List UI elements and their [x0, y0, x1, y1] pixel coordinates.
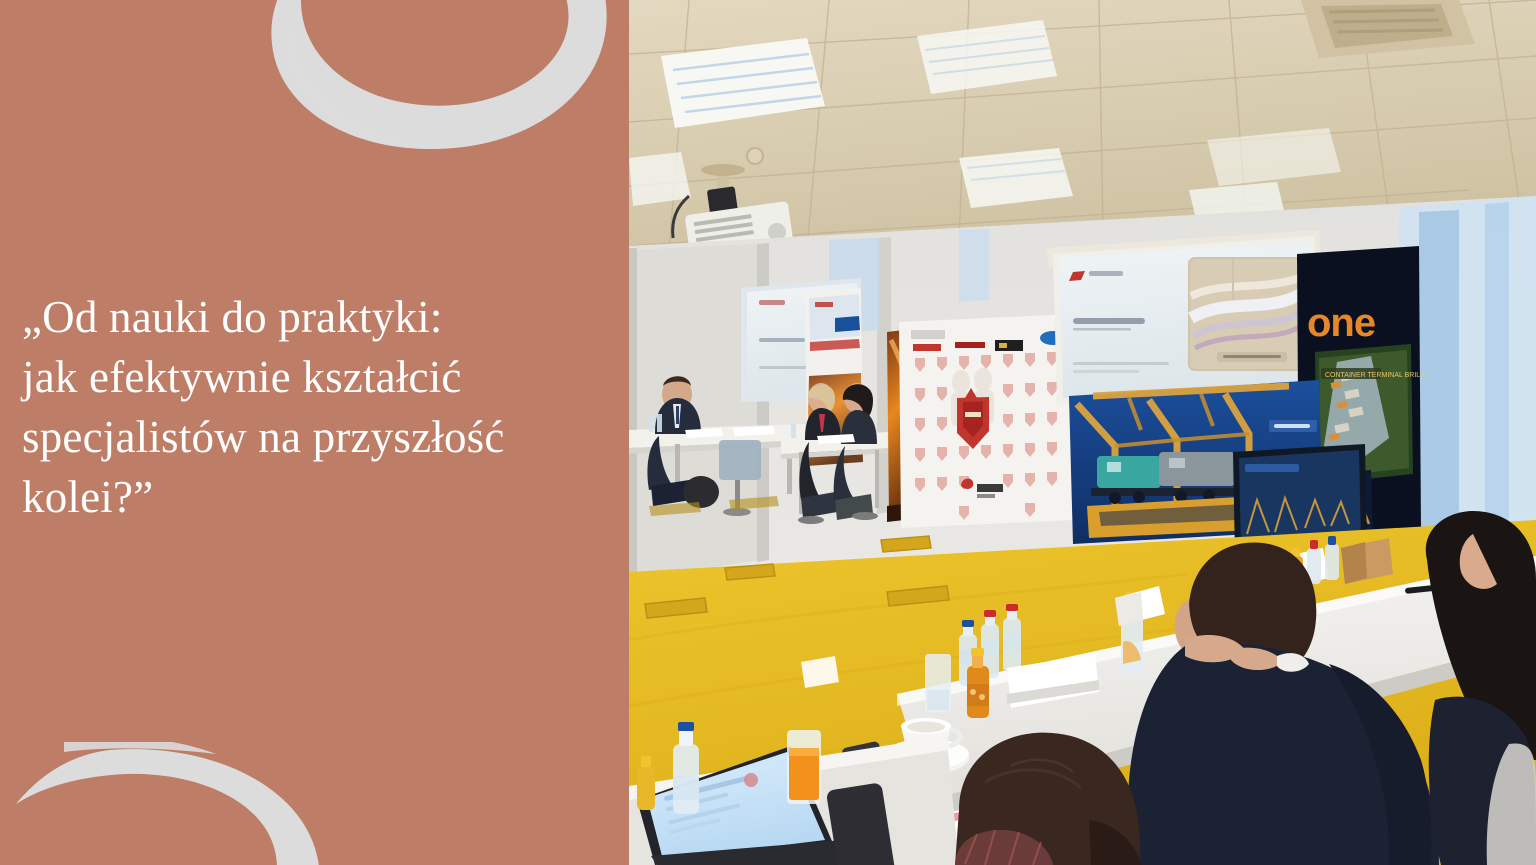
- juice-glass: [787, 730, 821, 804]
- conference-room-photo: one: [629, 0, 1536, 865]
- slide-train-image: [1189, 258, 1307, 370]
- presentation-slide: „Od nauki do praktyki: jak efektywnie ks…: [0, 0, 1536, 865]
- brush-ring-top-icon: [258, 0, 614, 188]
- banner-one-text: one: [1307, 301, 1375, 345]
- page-title: „Od nauki do praktyki: jak efektywnie ks…: [22, 288, 602, 527]
- title-panel: „Od nauki do praktyki: jak efektywnie ks…: [0, 0, 629, 865]
- projection-screen: [1047, 230, 1321, 404]
- brush-ring-bottom-icon: [0, 742, 334, 865]
- photo-illustration: one: [629, 0, 1536, 865]
- title-block: „Od nauki do praktyki: jak efektywnie ks…: [22, 288, 602, 527]
- banner-terminal-caption: CONTAINER TERMINAL BRILA: [1325, 372, 1425, 379]
